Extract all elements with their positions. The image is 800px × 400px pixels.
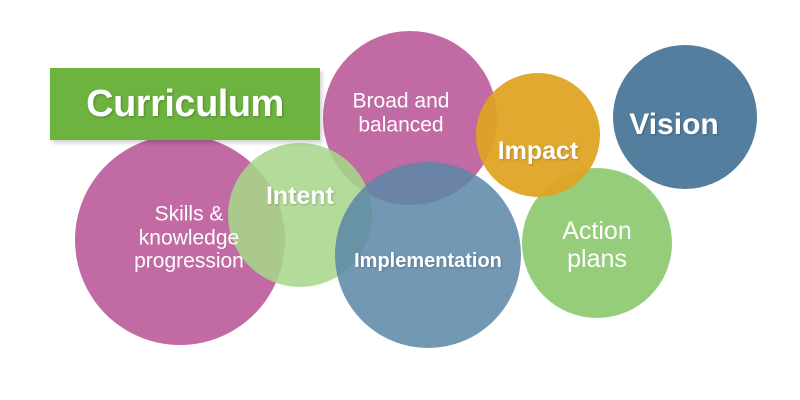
curriculum-venn-diagram: Curriculum Broad and balanced Impact Vis…: [0, 0, 800, 400]
curriculum-banner-label: Curriculum: [86, 85, 284, 123]
circle-implementation: [335, 162, 521, 348]
circle-vision: [613, 45, 757, 189]
venn-circles-canvas: [0, 0, 800, 400]
circle-impact: [476, 73, 600, 197]
curriculum-banner: Curriculum: [50, 68, 320, 140]
